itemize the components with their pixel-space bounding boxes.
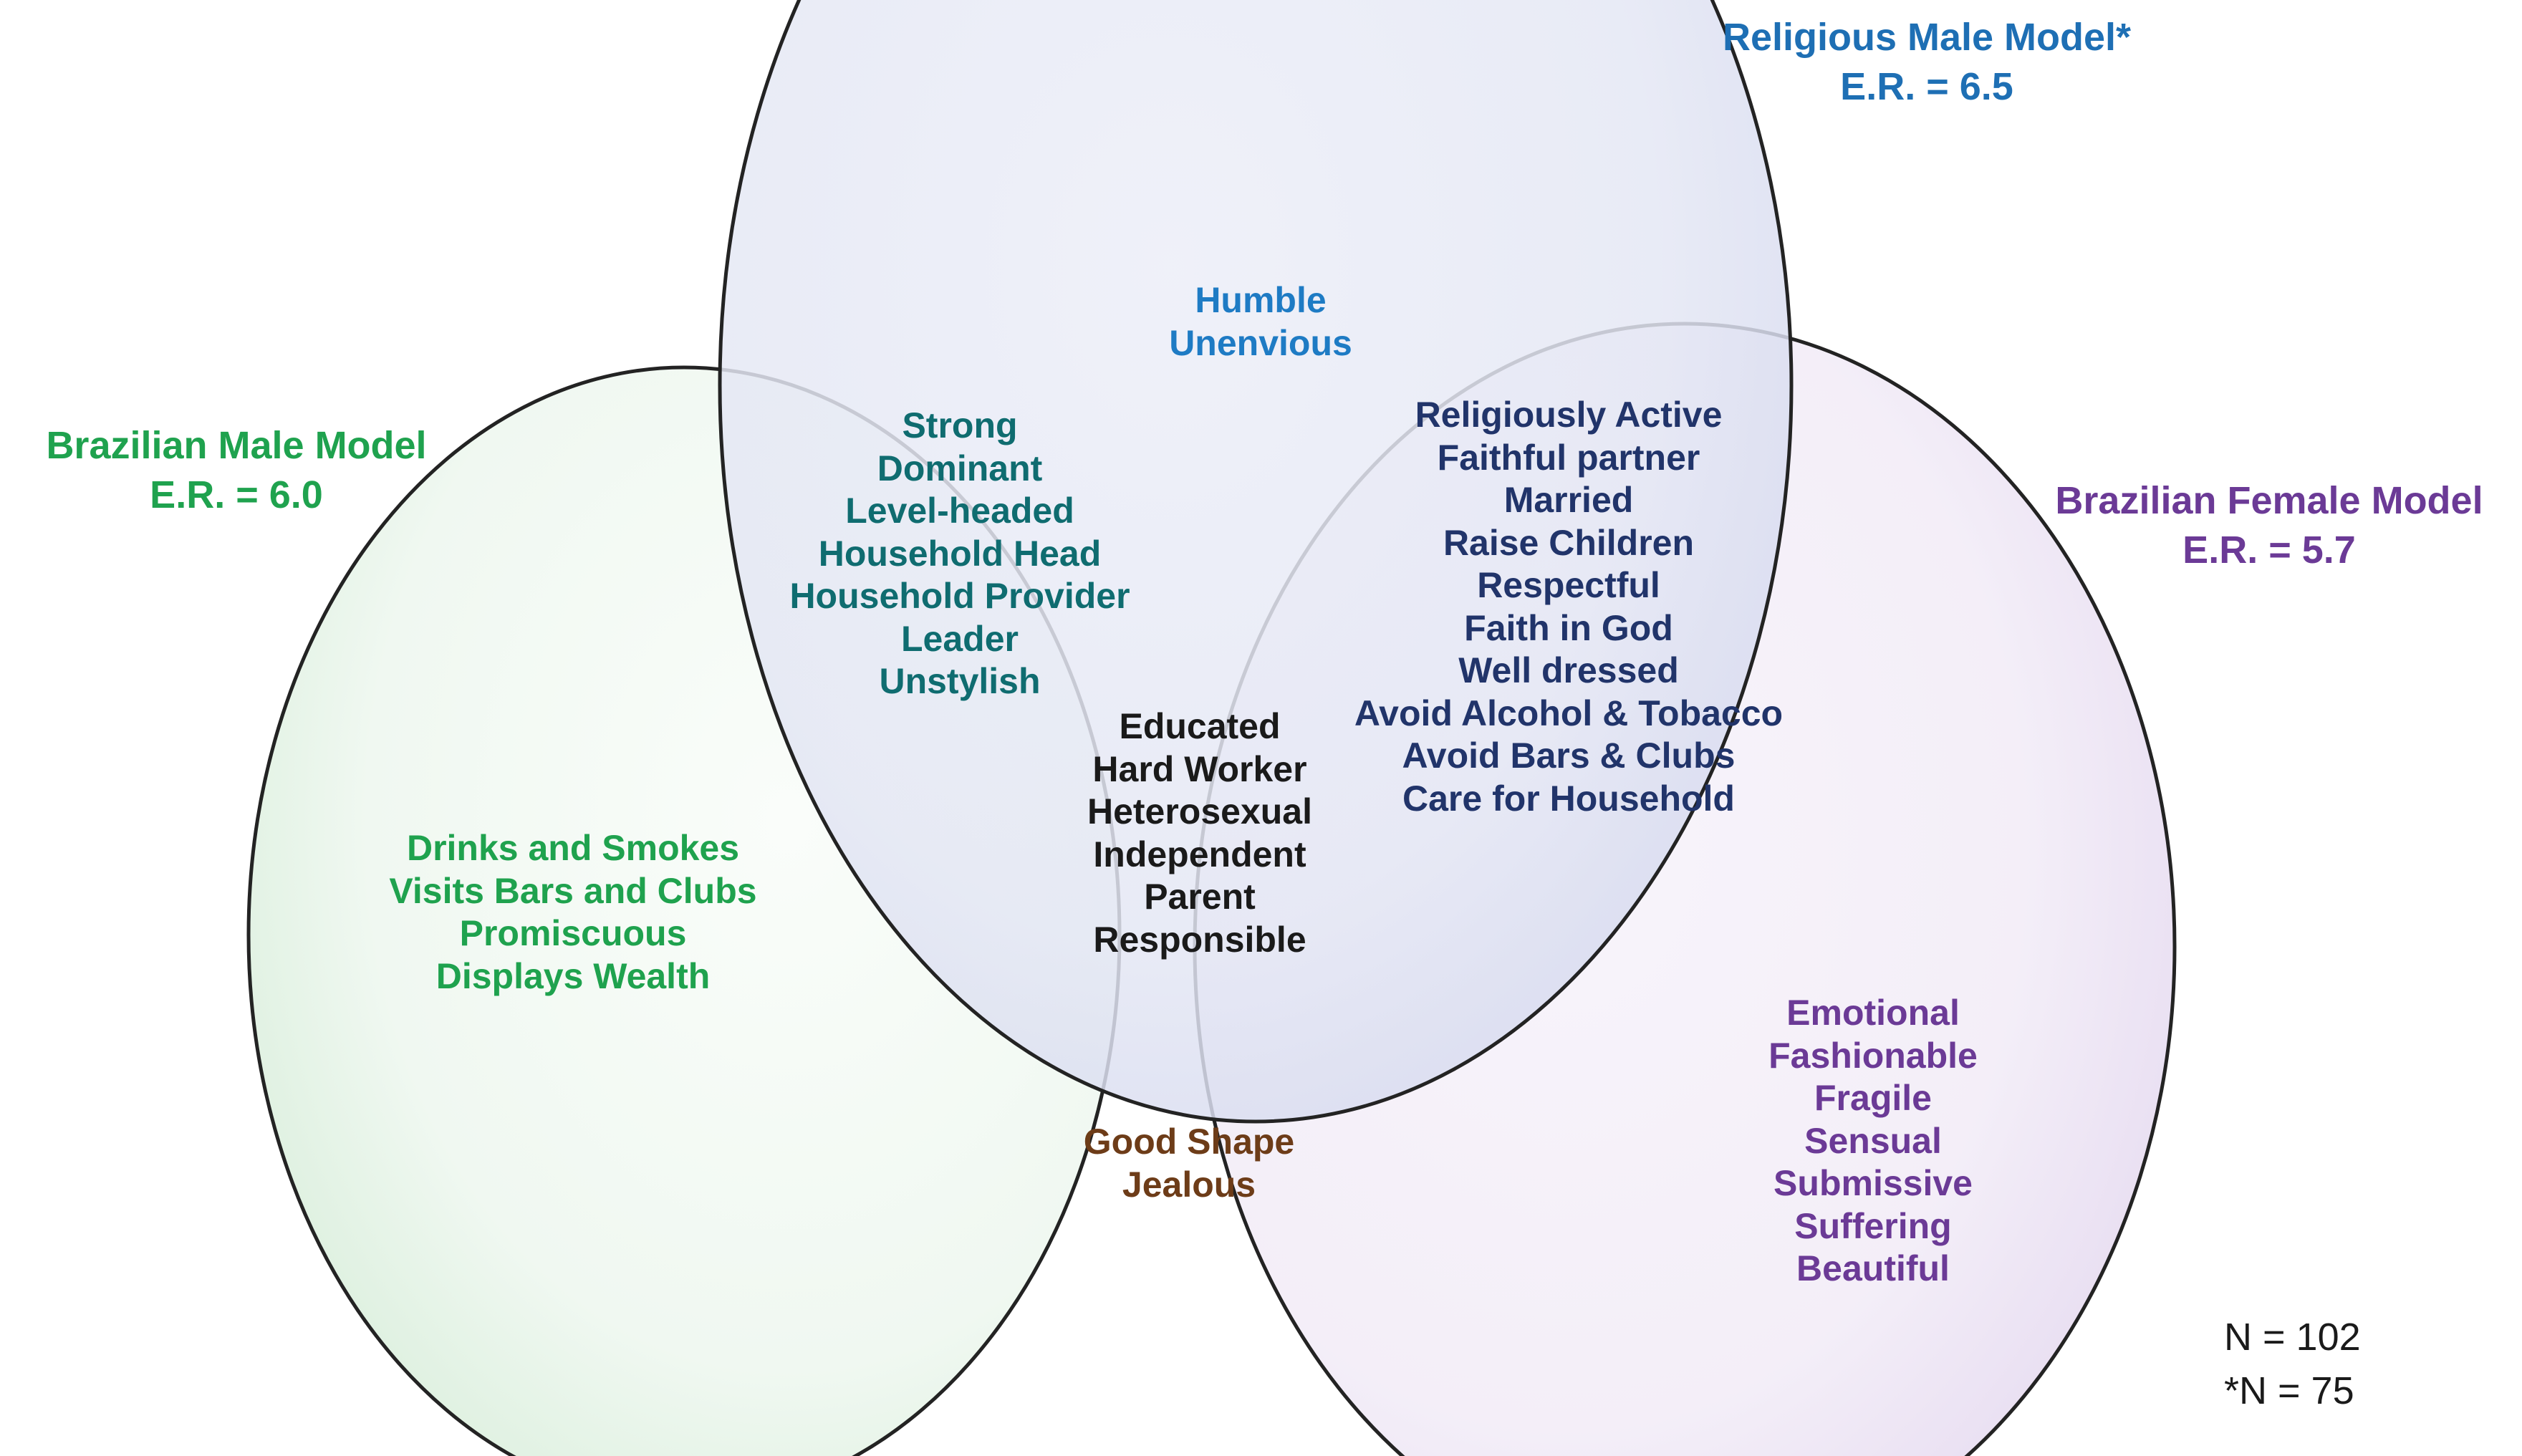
region-item: Drinks and Smokes <box>351 827 795 870</box>
region-item: Promiscuous <box>351 912 795 955</box>
set-label-religious-male: Religious Male Model* E.R. = 6.5 <box>1669 13 2185 112</box>
set-label-stat: E.R. = 6.5 <box>1669 62 2185 112</box>
region-item: Household Provider <box>731 575 1189 618</box>
venn-diagram-canvas: Brazilian Male Model E.R. = 6.0 Religiou… <box>0 0 2522 1456</box>
region-item: Good Shape <box>1053 1121 1325 1164</box>
region-religious-male-only: HumbleUnenvious <box>1092 279 1429 365</box>
set-label-brazilian-female: Brazilian Female Model E.R. = 5.7 <box>2016 476 2522 575</box>
region-item: Submissive <box>1730 1162 2016 1205</box>
region-all-three: EducatedHard WorkerHeterosexualIndepende… <box>1039 705 1361 961</box>
starred-n: *N = 75 <box>2224 1364 2496 1418</box>
region-item: Jealous <box>1053 1164 1325 1207</box>
region-item: Sensual <box>1730 1120 2016 1163</box>
region-item: Heterosexual <box>1039 791 1361 834</box>
region-item: Faith in God <box>1336 607 1801 650</box>
region-item: Displays Wealth <box>351 955 795 998</box>
region-item: Responsible <box>1039 919 1361 962</box>
set-label-stat: E.R. = 5.7 <box>2016 526 2522 575</box>
region-item: Care for Household <box>1336 778 1801 821</box>
region-item: Household Head <box>731 533 1189 576</box>
set-label-stat: E.R. = 6.0 <box>7 471 466 520</box>
set-label-name: Religious Male Model* <box>1669 13 2185 62</box>
region-item: Avoid Alcohol & Tobacco <box>1336 693 1801 736</box>
sample-size-footnote: N = 102 *N = 75 <box>2224 1311 2496 1417</box>
region-item: Dominant <box>731 448 1189 491</box>
region-item: Suffering <box>1730 1205 2016 1248</box>
region-item: Unenvious <box>1092 322 1429 365</box>
region-item: Emotional <box>1730 992 2016 1035</box>
region-brazilian-male-and-religious-male: StrongDominantLevel-headedHousehold Head… <box>731 405 1189 703</box>
region-item: Religiously Active <box>1336 394 1801 437</box>
region-item: Leader <box>731 618 1189 661</box>
region-religious-male-and-brazilian-female: Religiously ActiveFaithful partnerMarrie… <box>1336 394 1801 820</box>
region-item: Educated <box>1039 705 1361 748</box>
region-item: Unstylish <box>731 660 1189 703</box>
region-item: Fragile <box>1730 1077 2016 1120</box>
set-label-brazilian-male: Brazilian Male Model E.R. = 6.0 <box>7 421 466 520</box>
region-item: Strong <box>731 405 1189 448</box>
region-item: Well dressed <box>1336 650 1801 693</box>
set-label-name: Brazilian Male Model <box>7 421 466 471</box>
region-brazilian-female-only: EmotionalFashionableFragileSensualSubmis… <box>1730 992 2016 1291</box>
region-item: Humble <box>1092 279 1429 322</box>
region-item: Visits Bars and Clubs <box>351 870 795 913</box>
region-item: Independent <box>1039 834 1361 877</box>
region-item: Faithful partner <box>1336 437 1801 480</box>
total-n: N = 102 <box>2224 1311 2496 1364</box>
region-item: Avoid Bars & Clubs <box>1336 735 1801 778</box>
region-item: Respectful <box>1336 564 1801 607</box>
region-brazilian-male-and-brazilian-female: Good ShapeJealous <box>1053 1121 1325 1206</box>
region-item: Married <box>1336 479 1801 522</box>
region-item: Fashionable <box>1730 1035 2016 1078</box>
region-item: Parent <box>1039 876 1361 919</box>
region-item: Raise Children <box>1336 522 1801 565</box>
region-brazilian-male-only: Drinks and SmokesVisits Bars and ClubsPr… <box>351 827 795 998</box>
region-item: Beautiful <box>1730 1248 2016 1291</box>
region-item: Level-headed <box>731 490 1189 533</box>
set-label-name: Brazilian Female Model <box>2016 476 2522 526</box>
region-item: Hard Worker <box>1039 748 1361 791</box>
